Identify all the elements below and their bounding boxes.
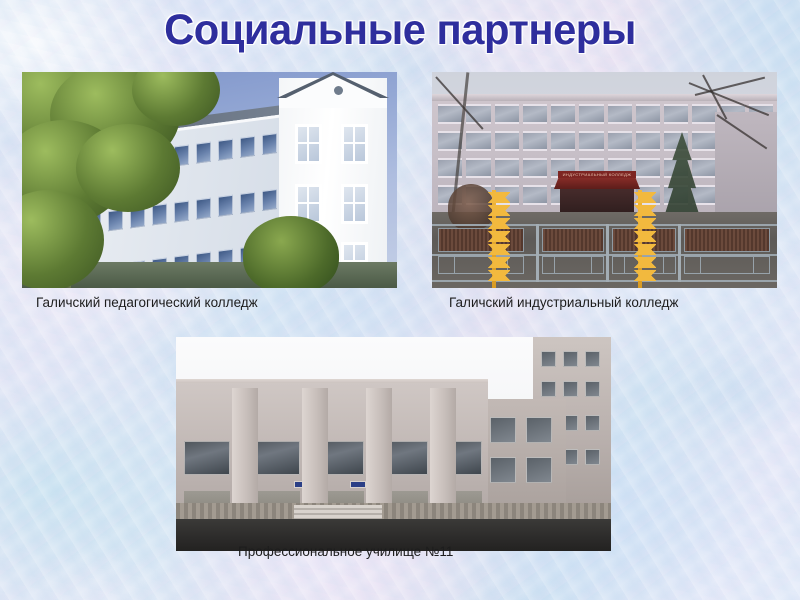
caption-vocational-school: Профессиональное училище №11	[238, 543, 453, 560]
photo-industrial-college: ИНДУСТРИАЛЬНЫЙ КОЛЛЕДЖ	[432, 72, 777, 288]
photo-vocational-school	[176, 337, 611, 551]
photo-2-scene: ИНДУСТРИАЛЬНЫЙ КОЛЛЕДЖ	[432, 72, 777, 288]
wheat-ear-column	[478, 190, 510, 288]
photo-3-scene	[176, 337, 611, 551]
photo-1-scene	[22, 72, 397, 288]
entrance-sign-text: ИНДУСТРИАЛЬНЫЙ КОЛЛЕДЖ	[558, 171, 636, 178]
tree-foliage	[76, 124, 180, 212]
right-wing	[482, 399, 566, 513]
pilaster	[366, 388, 392, 513]
photo-pedagogical-college	[22, 72, 397, 288]
gable-vent	[334, 86, 343, 95]
slide-canvas: Социальные партнеры	[0, 0, 800, 600]
right-wing	[715, 112, 777, 220]
pilaster	[430, 388, 456, 513]
pilaster	[302, 388, 328, 513]
pilaster	[232, 388, 258, 513]
caption-industrial-college: Галичский индустриальный колледж	[449, 294, 678, 311]
page-title: Социальные партнеры	[12, 3, 788, 57]
caption-pedagogical-college: Галичский педагогический колледж	[36, 294, 258, 311]
wheat-ear-column	[624, 190, 656, 288]
entrance-sign: ИНДУСТРИАЛЬНЫЙ КОЛЛЕДЖ	[558, 171, 636, 178]
tree-foliage-right	[243, 216, 339, 288]
